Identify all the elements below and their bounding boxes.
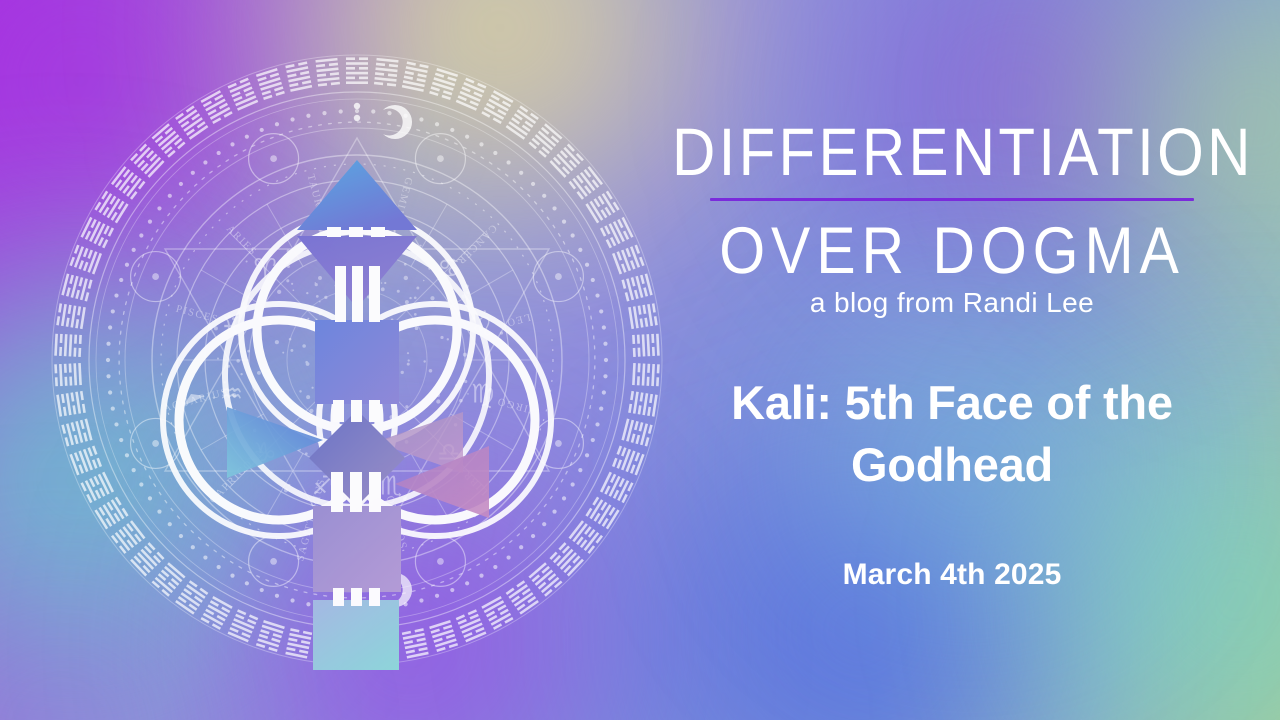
zodiac-name-leo: LEO: [504, 311, 531, 328]
zodiac-name-aries: ARIES: [224, 223, 259, 258]
center-square-2: [313, 506, 401, 592]
post-headline: Kali: 5th Face of the Godhead: [672, 372, 1232, 496]
esoteric-mandala-artwork: ♓♈♉♊♋♌♍♎♏♐♑♒ PISCESARIESTAURUSGEMINICANC…: [47, 50, 667, 670]
title-divider-rule: [710, 198, 1194, 201]
crescent-moon-top-icon: [354, 103, 412, 139]
center-square-1: [315, 320, 399, 404]
blog-title-line-2: OVER DOGMA: [672, 217, 1232, 284]
blog-byline: a blog from Randi Lee: [672, 287, 1232, 319]
center-square-3: [313, 600, 399, 670]
blog-masthead: DIFFERENTIATION OVER DOGMA a blog from R…: [672, 118, 1232, 319]
post-headline-wrap: Kali: 5th Face of the Godhead: [672, 372, 1232, 496]
blog-title-line-1: DIFFERENTIATION: [672, 118, 1232, 187]
text-column: DIFFERENTIATION OVER DOGMA a blog from R…: [672, 0, 1232, 720]
post-date: March 4th 2025: [672, 558, 1232, 592]
poster-canvas: ♓♈♉♊♋♌♍♎♏♐♑♒ PISCESARIESTAURUSGEMINICANC…: [0, 0, 1280, 720]
zodiac-name-cancer: CANCER: [454, 222, 499, 267]
